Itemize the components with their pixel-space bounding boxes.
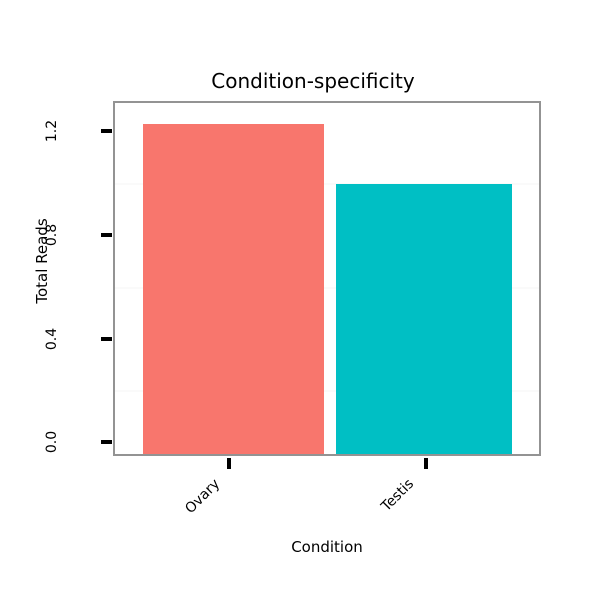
x-tick-label-ovary: Ovary (182, 476, 223, 517)
x-axis-title: Condition (113, 538, 541, 556)
y-tick-mark-0 (101, 440, 112, 444)
plot-panel-inner (115, 103, 539, 454)
y-tick-mark-3 (101, 129, 112, 133)
y-tick-label-2: 0.8 (44, 205, 60, 265)
bar-ovary[interactable] (143, 124, 324, 454)
y-tick-label-1: 0.4 (44, 309, 60, 369)
y-tick-label-3: 1.2 (44, 101, 60, 161)
x-tick-mark-1 (424, 458, 428, 469)
x-tick-mark-0 (227, 458, 231, 469)
chart-title: Condition-specificity (0, 70, 600, 92)
bar-testis[interactable] (336, 184, 512, 454)
y-tick-mark-1 (101, 337, 112, 341)
y-tick-mark-2 (101, 233, 112, 237)
y-tick-label-0: 0.0 (44, 412, 60, 472)
plot-panel (113, 101, 541, 456)
chart-title-text: Condition-specificity (211, 70, 414, 92)
chart-root: Condition-specificity Total Reads 0.0 0.… (0, 0, 600, 600)
x-tick-label-testis: Testis (378, 476, 417, 515)
